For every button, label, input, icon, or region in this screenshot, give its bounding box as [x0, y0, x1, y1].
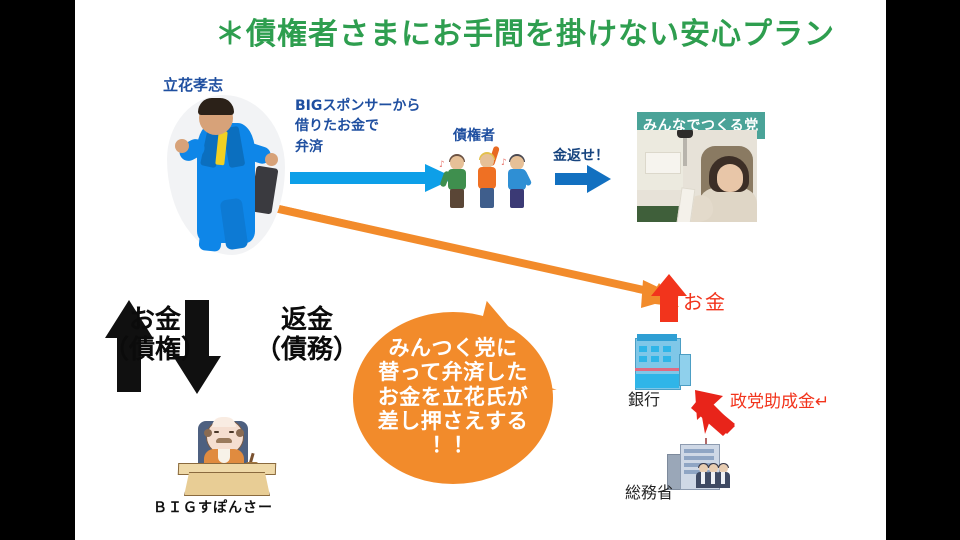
face: [717, 164, 743, 192]
speech-bubble: みんつく党に 替って弁済した お金を立花氏が 差し押さえする ！！: [353, 300, 553, 485]
moustache: [216, 438, 232, 443]
arrow-blue-repayment: [290, 164, 455, 192]
hand-left: [175, 139, 189, 153]
hair-left: [204, 429, 212, 437]
bank-building-icon: [635, 332, 693, 388]
arrow-red-subsidy: [691, 390, 735, 436]
creditors-illustration: ♪ ♪: [445, 146, 535, 208]
head: [480, 154, 494, 168]
window: [639, 356, 647, 362]
window: [663, 346, 671, 352]
bank-roof-sign: [637, 334, 677, 341]
official-person: [705, 464, 721, 488]
legs: [450, 189, 464, 208]
head: [450, 156, 464, 170]
desk-front: [184, 472, 270, 496]
speech-bubble-text: みんつく党に 替って弁済した お金を立花氏が 差し押さえする ！！: [361, 336, 545, 458]
bald-top: [212, 417, 236, 427]
window: [639, 346, 647, 352]
hair: [198, 98, 234, 115]
anger-mark-icon: ♪: [501, 158, 507, 168]
slide-canvas: ＊債権者さまにお手間を掛けない安心プラン: [75, 0, 886, 540]
anger-mark-icon: ♪: [439, 160, 445, 170]
label-party-subsidy: 政党助成金↵: [730, 392, 829, 413]
label-refund-debt: 返金 （債務）: [255, 306, 359, 366]
creditor-orange: [475, 150, 499, 208]
label-ministry: 総務省: [625, 483, 673, 503]
label-money-claim: お金 （債権）: [103, 306, 207, 366]
shirt-collar: [218, 449, 230, 463]
legs: [480, 188, 494, 208]
tachibana-photo-cutout: [167, 95, 285, 255]
head: [510, 156, 524, 170]
shelf: [645, 152, 681, 174]
legs: [510, 189, 524, 208]
label-creditors: 債権者: [453, 128, 495, 146]
window: [651, 346, 659, 352]
label-big-sponsor: ＢＩＧすぽんさー: [153, 500, 273, 518]
party-member-photo: [637, 130, 757, 222]
torso: [478, 167, 496, 189]
hand-right: [265, 153, 278, 166]
creditor-blue: ♪: [505, 156, 529, 208]
ministry-building-icon: [667, 438, 741, 488]
note-big-sponsor-loan: BIGスポンサーから 借りたお金で 弁済: [295, 96, 420, 157]
label-return-money: 金返せ！: [553, 148, 609, 166]
screenshot-stage: ＊債権者さまにお手間を掛けない安心プラン: [0, 0, 960, 540]
microphone-icon: [677, 130, 693, 138]
window: [651, 356, 659, 362]
shirt: [721, 472, 725, 484]
label-bank: 銀行: [628, 390, 660, 410]
window-row: [684, 449, 714, 453]
hair-right: [236, 429, 244, 437]
torso: [448, 169, 466, 190]
creditor-green: ♪: [445, 156, 469, 208]
window-row: [684, 456, 714, 460]
bank-vertical-sign: [679, 354, 691, 386]
window: [663, 356, 671, 362]
shirt: [711, 472, 715, 484]
bank-base: [635, 374, 679, 388]
eye-right: [229, 431, 234, 433]
facade-stripe: [635, 368, 679, 371]
label-money-red: お金: [683, 290, 727, 315]
arrow-blue-demand: [555, 165, 611, 193]
big-sponsor-illustration: [170, 415, 280, 495]
arrow-orange-seizure: [273, 204, 679, 308]
eye-left: [214, 431, 219, 433]
label-tachibana: 立花孝志: [163, 76, 223, 95]
